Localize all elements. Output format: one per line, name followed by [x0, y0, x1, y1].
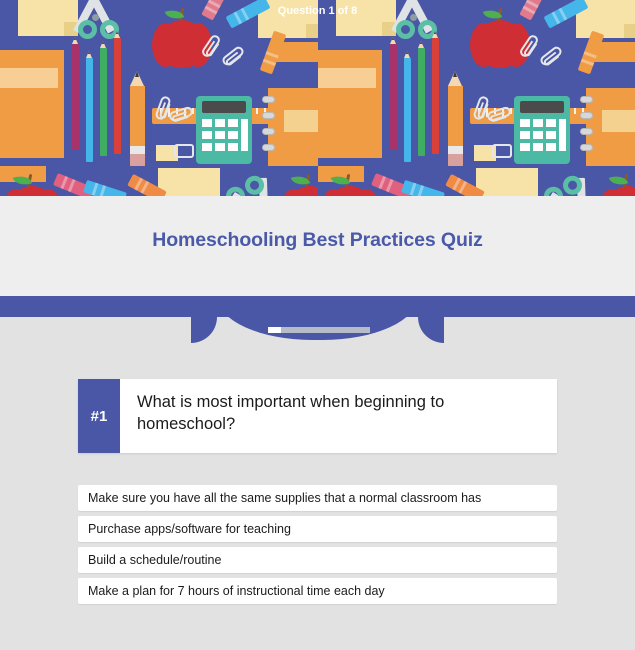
answer-option-label: Build a schedule/routine	[88, 553, 221, 567]
notebook-icon	[268, 88, 318, 166]
answer-option[interactable]: Make sure you have all the same supplies…	[78, 485, 557, 511]
paperclip-icon	[538, 45, 563, 68]
crayon-icon	[83, 180, 127, 196]
banner-tile	[318, 0, 635, 196]
pencil-icon	[130, 86, 145, 166]
binder-clip-icon	[156, 142, 202, 162]
banner-image	[0, 0, 635, 196]
question-text: What is most important when beginning to…	[120, 379, 557, 453]
spiral-ring-icon	[262, 96, 275, 103]
band-shoulder-left	[191, 317, 217, 343]
answer-option-label: Make sure you have all the same supplies…	[88, 491, 481, 505]
apple-icon	[152, 12, 212, 72]
answer-option[interactable]: Purchase apps/software for teaching	[78, 516, 557, 542]
answer-option[interactable]: Make a plan for 7 hours of instructional…	[78, 578, 557, 604]
spiral-ring-icon	[580, 144, 593, 151]
apple-icon	[282, 176, 318, 196]
apple-icon	[470, 12, 530, 72]
spiral-ring-icon	[580, 96, 593, 103]
calculator-icon	[514, 96, 570, 164]
spiral-ring-icon	[262, 144, 275, 151]
answer-option-label: Make a plan for 7 hours of instructional…	[88, 584, 385, 598]
page-title: Homeschooling Best Practices Quiz	[0, 229, 635, 252]
calculator-icon	[196, 96, 252, 164]
pencil-icon	[390, 44, 397, 150]
answer-option-label: Purchase apps/software for teaching	[88, 522, 291, 536]
quiz-page: Homeschooling Best Practices Quiz Questi…	[0, 0, 635, 650]
spiral-ring-icon	[580, 128, 593, 135]
answer-option[interactable]: Build a schedule/routine	[78, 547, 557, 573]
folder-icon	[318, 50, 382, 158]
answer-options-list: Make sure you have all the same supplies…	[78, 485, 557, 609]
spiral-ring-icon	[262, 128, 275, 135]
apple-icon	[600, 176, 635, 196]
progress-bar-fill	[268, 327, 281, 333]
pencil-icon	[114, 38, 121, 154]
folder-icon	[0, 50, 64, 158]
pencil-icon	[404, 58, 411, 162]
pencil-icon	[100, 48, 107, 156]
paperclip-icon	[220, 45, 245, 68]
question-counter-label: Question 1 of 8	[217, 5, 418, 17]
notebook-icon	[586, 88, 635, 166]
question-counter-tab	[217, 296, 418, 340]
crayon-icon	[401, 180, 445, 196]
banner-tile	[0, 0, 318, 196]
question-card: #1 What is most important when beginning…	[78, 379, 557, 453]
pencil-icon	[418, 48, 425, 156]
spiral-ring-icon	[262, 112, 275, 119]
title-area: Homeschooling Best Practices Quiz	[0, 196, 635, 296]
band-shoulder-right	[418, 317, 444, 343]
pencil-icon	[72, 44, 79, 150]
pencil-icon	[86, 58, 93, 162]
sticky-note-icon	[18, 0, 78, 36]
pencil-icon	[448, 86, 463, 166]
pencil-icon	[432, 38, 439, 154]
binder-clip-icon	[474, 142, 520, 162]
spiral-ring-icon	[580, 112, 593, 119]
question-number-badge: #1	[78, 379, 120, 453]
progress-bar-track	[268, 327, 370, 333]
